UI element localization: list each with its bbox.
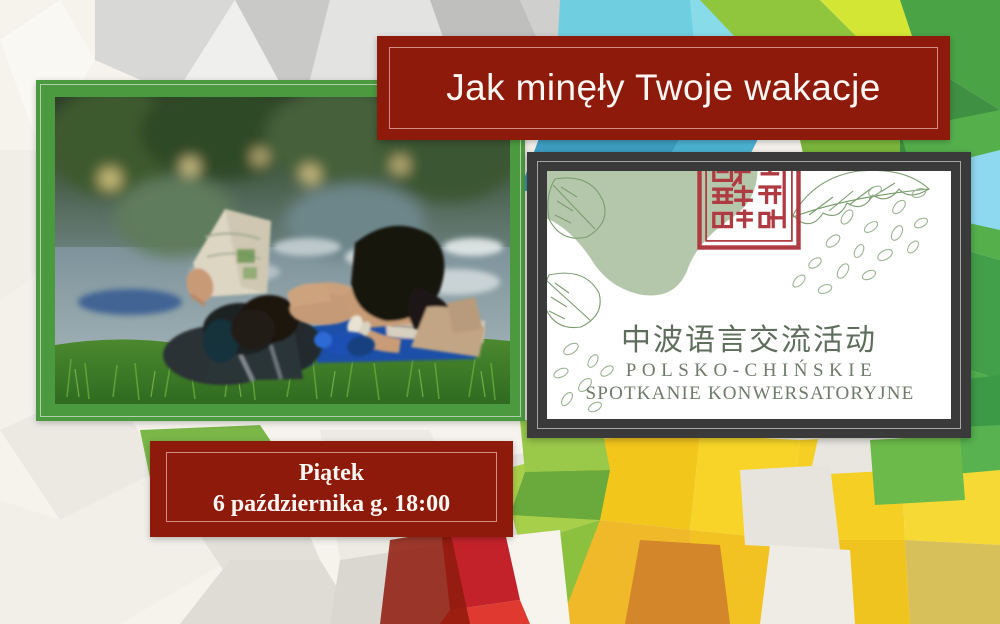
date-text-block: Piątek 6 października g. 18:00 (150, 441, 513, 537)
poster-card: 中波语言交流活动 POLSKO-CHIŃSKIE SPOTKANIE KONWE… (547, 171, 951, 419)
subtitle-line-1: POLSKO-CHIŃSKIE (547, 360, 951, 382)
chinese-title: 中波语言交流活动 (547, 324, 951, 359)
seal-stamp-svg (694, 171, 804, 253)
event-poster: Jak minęły Twoje wakacje (0, 0, 1000, 624)
photo-frame (55, 97, 510, 404)
event-datetime: 6 października g. 18:00 (213, 489, 450, 520)
poster-text-block: 中波语言交流活动 POLSKO-CHIŃSKIE SPOTKANIE KONWE… (547, 324, 951, 406)
event-day: Piątek (299, 458, 364, 489)
conversation-poster-panel: 中波语言交流活动 POLSKO-CHIŃSKIE SPOTKANIE KONWE… (527, 152, 971, 438)
title-banner: Jak minęły Twoje wakacje (377, 36, 950, 140)
summer-photo (55, 97, 510, 404)
subtitle-line-2: SPOTKANIE KONWERSATORYJNE (547, 383, 951, 405)
poster-title: Jak minęły Twoje wakacje (377, 36, 950, 140)
chinese-seal-icon (694, 171, 804, 253)
date-banner: Piątek 6 października g. 18:00 (150, 441, 513, 537)
